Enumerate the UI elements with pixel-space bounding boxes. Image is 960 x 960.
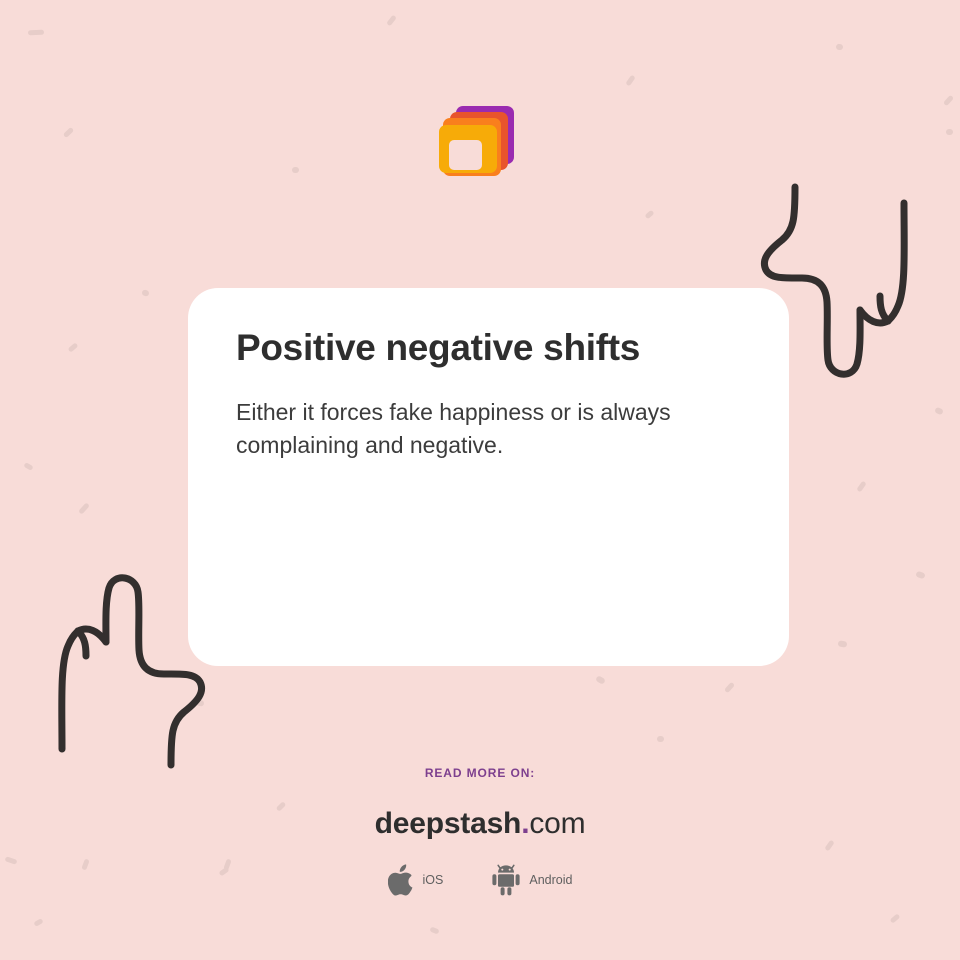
- confetti-dash: [836, 43, 844, 50]
- confetti-dash: [195, 699, 204, 707]
- idea-card: Positive negative shifts Either it force…: [188, 288, 789, 666]
- footer: READ MORE ON: deepstash.com iOS: [0, 766, 960, 896]
- brand-tld: com: [529, 807, 585, 840]
- confetti-dash: [429, 926, 439, 934]
- confetti-dash: [141, 289, 150, 297]
- confetti-dash: [856, 481, 866, 493]
- logo-inner-cutout: [449, 140, 482, 170]
- android-icon: [491, 863, 521, 896]
- confetti-dash: [595, 675, 606, 685]
- card-title: Positive negative shifts: [236, 326, 741, 370]
- confetti-dash: [63, 127, 74, 138]
- confetti-dash: [386, 15, 397, 27]
- confetti-dash: [33, 918, 43, 927]
- android-label: Android: [529, 873, 572, 887]
- confetti-dash: [23, 462, 33, 471]
- apple-icon: [388, 864, 415, 896]
- pointing-hand-up-icon: [24, 562, 214, 774]
- confetti-dash: [625, 75, 635, 87]
- store-badges: iOS And: [0, 863, 960, 896]
- confetti-dash: [838, 640, 848, 647]
- confetti-dash: [915, 571, 925, 579]
- confetti-dash: [943, 95, 954, 107]
- confetti-dash: [28, 30, 44, 36]
- confetti-dash: [292, 167, 299, 173]
- confetti-dash: [890, 913, 901, 923]
- confetti-dash: [68, 342, 79, 352]
- confetti-dash: [946, 129, 953, 135]
- confetti-dash: [78, 502, 90, 514]
- ios-label: iOS: [423, 873, 444, 887]
- brand-name: deepstash: [375, 807, 522, 840]
- confetti-dash: [657, 736, 664, 742]
- card-body-text: Either it forces fake happiness or is al…: [236, 396, 716, 463]
- confetti-dash: [644, 210, 654, 220]
- ios-store-badge[interactable]: iOS: [388, 864, 444, 896]
- deepstash-logo: [430, 104, 516, 190]
- confetti-dash: [934, 407, 944, 416]
- read-more-label: READ MORE ON:: [0, 766, 960, 780]
- confetti-dash: [724, 682, 735, 694]
- brand-wordmark[interactable]: deepstash.com: [0, 807, 960, 841]
- idea-card-canvas: Positive negative shifts Either it force…: [0, 0, 960, 960]
- android-store-badge[interactable]: Android: [491, 863, 572, 896]
